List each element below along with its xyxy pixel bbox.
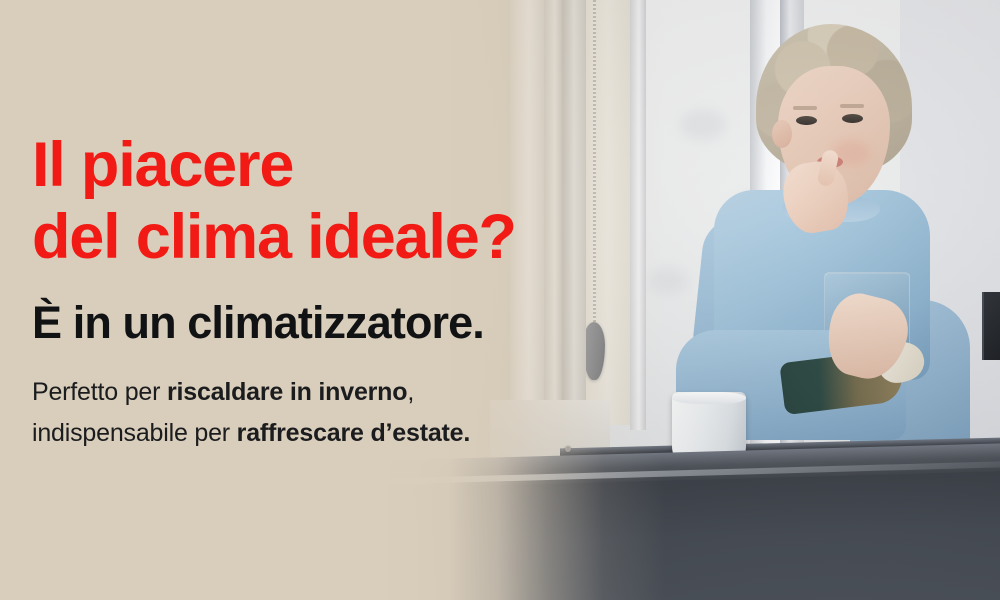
child-eyebrow-right: [840, 104, 864, 108]
headline-line-2: del clima ideale?: [32, 206, 516, 269]
headline-line-1: Il piacere: [32, 134, 293, 197]
child-ear: [772, 120, 792, 148]
child-eye-right: [842, 114, 863, 123]
body-line-2-prefix: indispensabile per: [32, 419, 237, 447]
body-line-1-prefix: Perfetto per: [32, 378, 167, 406]
promo-banner: Il piacere del clima ideale? È in un cli…: [0, 0, 1000, 600]
copy-block: Il piacere del clima ideale? È in un cli…: [32, 0, 572, 600]
glass-smudge: [680, 110, 726, 140]
body-line-1-emphasis: riscaldare in inverno: [167, 378, 407, 406]
body-line-2: indispensabile per raffrescare d’estate.: [32, 418, 470, 449]
subheadline: È in un climatizzatore.: [32, 300, 484, 345]
blind-chain-icon: [593, 0, 596, 332]
window-frame-bead: [630, 0, 646, 430]
wall-mounted-box: [982, 292, 1000, 360]
body-line-1-suffix: ,: [407, 378, 414, 406]
glass-smudge: [648, 268, 688, 294]
body-line-2-emphasis: raffrescare d’estate.: [237, 419, 470, 447]
body-line-1: Perfetto per riscaldare in inverno,: [32, 377, 414, 408]
coffee-mug-rim: [672, 392, 746, 404]
child-eye-left: [796, 116, 817, 125]
child-eyebrow-left: [793, 106, 817, 110]
